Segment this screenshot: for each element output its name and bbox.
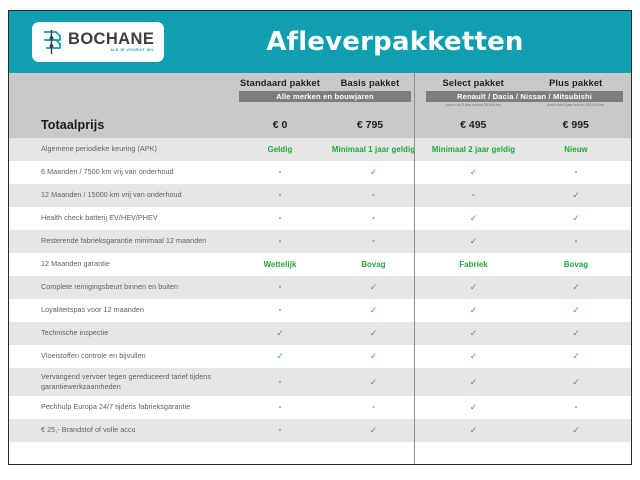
cell-value-tick: ✓ xyxy=(572,425,580,435)
cell-value-tick: ✓ xyxy=(572,377,580,387)
feature-table: Algemene periodieke keuring (APK)GeldigM… xyxy=(9,138,631,442)
cell-pkg-a2: - xyxy=(325,236,422,247)
cell-value-tick: ✓ xyxy=(572,351,580,361)
cell-pkg-a1: ✓ xyxy=(235,351,325,362)
afleverpakketten-card: BOCHANE ALS JE VOORUIT WIL Afleverpakket… xyxy=(8,10,632,465)
cell-value-dash: - xyxy=(279,282,282,291)
row-label: Complete reinigingsbeurt binnen en buite… xyxy=(9,282,235,292)
cell-value-word: Fabriek xyxy=(459,260,487,269)
table-row: Pechhulp Europa 24/7 tijdens fabrieksgar… xyxy=(9,396,631,419)
cell-value-dash: - xyxy=(279,190,282,199)
cell-pkg-b2: - xyxy=(525,236,627,247)
column-title-select: Select pakket xyxy=(422,78,525,88)
cell-pkg-b2: ✓ xyxy=(525,328,627,339)
group-divider xyxy=(414,73,415,464)
row-cells: -✓✓✓ xyxy=(235,282,631,293)
cell-value-tick: ✓ xyxy=(572,190,580,200)
cell-pkg-a2: ✓ xyxy=(325,425,422,436)
cell-pkg-b2: - xyxy=(525,402,627,413)
row-cells: -✓✓- xyxy=(235,167,631,178)
cell-pkg-a2: ✓ xyxy=(325,167,422,178)
table-row: 6 Maanden / 7500 km vrij van onderhoud-✓… xyxy=(9,161,631,184)
table-row: € 25,- Brandstof of volle accu-✓✓✓ xyxy=(9,419,631,442)
cell-pkg-a1: Geldig xyxy=(235,145,325,154)
cell-pkg-a1: - xyxy=(235,190,325,201)
cell-pkg-a1: - xyxy=(235,213,325,224)
cell-value-tick: ✓ xyxy=(572,282,580,292)
row-cells: --✓- xyxy=(235,236,631,247)
cell-pkg-a1: - xyxy=(235,282,325,293)
cell-value-dash: - xyxy=(279,402,282,411)
row-label: Algemene periodieke keuring (APK) xyxy=(9,144,235,154)
row-cells: GeldigMinimaal 1 jaar geldigMinimaal 2 j… xyxy=(235,145,631,154)
cell-value-tick: ✓ xyxy=(470,402,478,412)
cell-pkg-a1: - xyxy=(235,305,325,316)
cell-pkg-a1: - xyxy=(235,402,325,413)
column-sub-plus: Auto's tot 5 jaar oud en 100.000 km xyxy=(525,104,628,107)
cell-pkg-a2: ✓ xyxy=(325,328,422,339)
cell-value-word: Bovag xyxy=(361,260,385,269)
cell-value-word: Geldig xyxy=(268,145,293,154)
cell-pkg-a1: - xyxy=(235,236,325,247)
table-row: Technische inspectie✓✓✓✓ xyxy=(9,322,631,345)
price-standaard: € 0 xyxy=(235,119,325,131)
price-basis: € 795 xyxy=(325,119,415,131)
cell-pkg-a1: - xyxy=(235,425,325,436)
cell-pkg-b1: ✓ xyxy=(422,377,525,388)
page-title: Afleverpakketten xyxy=(9,27,631,57)
cell-pkg-a2: - xyxy=(325,190,422,201)
page-root: BOCHANE ALS JE VOORUIT WIL Afleverpakket… xyxy=(0,0,640,480)
cell-value-dash: - xyxy=(575,236,578,245)
cell-value-tick: ✓ xyxy=(470,213,478,223)
cell-pkg-b1: Fabriek xyxy=(422,260,525,269)
price-plus: € 995 xyxy=(525,119,628,131)
cell-value-tick: ✓ xyxy=(370,282,378,292)
package-group-standaard-basis: Standaard pakket Basis pakket Alle merke… xyxy=(235,73,415,138)
cell-pkg-a2: ✓ xyxy=(325,377,422,388)
cell-value-word: Wettelijk xyxy=(264,260,297,269)
row-label: Vloeistoffen controle en bijvullen xyxy=(9,351,235,361)
table-row: Algemene periodieke keuring (APK)GeldigM… xyxy=(9,138,631,161)
row-label: 6 Maanden / 7500 km vrij van onderhoud xyxy=(9,167,235,177)
cell-value-dash: - xyxy=(279,236,282,245)
table-row: 12 Maanden garantieWettelijkBovagFabriek… xyxy=(9,253,631,276)
package-group-select-plus: Select pakket Plus pakket Renault / Daci… xyxy=(422,73,627,138)
group-badge-alle-merken: Alle merken en bouwjaren xyxy=(239,91,411,102)
cell-value-tick: ✓ xyxy=(470,167,478,177)
cell-value-word: Minimaal 2 jaar geldig xyxy=(432,145,515,154)
cell-value-dash: - xyxy=(372,213,375,222)
cell-value-tick: ✓ xyxy=(276,351,284,361)
cell-value-tick: ✓ xyxy=(572,328,580,338)
row-cells: -✓✓✓ xyxy=(235,377,631,388)
cell-pkg-a2: Minimaal 1 jaar geldig xyxy=(325,145,422,154)
cell-value-dash: - xyxy=(279,425,282,434)
row-cells: --✓✓ xyxy=(235,213,631,224)
cell-pkg-a2: ✓ xyxy=(325,305,422,316)
column-title-standaard: Standaard pakket xyxy=(235,78,325,88)
row-label: Loyaliteitspas voor 12 maanden xyxy=(9,305,235,315)
cell-value-dash: - xyxy=(472,190,475,199)
cell-value-dash: - xyxy=(372,190,375,199)
cell-value-dash: - xyxy=(279,213,282,222)
row-label: 12 Maanden garantie xyxy=(9,259,235,269)
cell-value-dash: - xyxy=(575,402,578,411)
page-header: BOCHANE ALS JE VOORUIT WIL Afleverpakket… xyxy=(9,11,631,73)
table-row: Health check batterij EV/HEV/PHEV--✓✓ xyxy=(9,207,631,230)
cell-pkg-b1: ✓ xyxy=(422,305,525,316)
row-label: Pechhulp Europa 24/7 tijdens fabrieksgar… xyxy=(9,402,235,412)
cell-value-dash: - xyxy=(279,377,282,386)
cell-pkg-a1: - xyxy=(235,377,325,388)
cell-value-word: Minimaal 1 jaar geldig xyxy=(332,145,415,154)
price-header: Totaalprijs Standaard pakket Basis pakke… xyxy=(9,73,631,138)
row-cells: --✓- xyxy=(235,402,631,413)
cell-value-tick: ✓ xyxy=(470,351,478,361)
cell-pkg-b1: Minimaal 2 jaar geldig xyxy=(422,145,525,154)
cell-value-tick: ✓ xyxy=(470,305,478,315)
cell-value-word: Bovag xyxy=(564,260,588,269)
cell-pkg-a2: - xyxy=(325,402,422,413)
table-row: Resterende fabrieksgarantie minimaal 12 … xyxy=(9,230,631,253)
cell-value-tick: ✓ xyxy=(370,305,378,315)
cell-value-tick: ✓ xyxy=(370,425,378,435)
cell-pkg-b1: ✓ xyxy=(422,236,525,247)
cell-value-tick: ✓ xyxy=(470,236,478,246)
cell-value-tick: ✓ xyxy=(370,377,378,387)
row-cells: ---✓ xyxy=(235,190,631,201)
cell-pkg-b2: ✓ xyxy=(525,190,627,201)
cell-pkg-b2: ✓ xyxy=(525,305,627,316)
cell-pkg-a2: ✓ xyxy=(325,282,422,293)
cell-value-dash: - xyxy=(372,236,375,245)
row-cells: WettelijkBovagFabriekBovag xyxy=(235,260,631,269)
table-row: Loyaliteitspas voor 12 maanden-✓✓✓ xyxy=(9,299,631,322)
cell-value-tick: ✓ xyxy=(572,213,580,223)
cell-pkg-b2: ✓ xyxy=(525,425,627,436)
row-label: Vervangend vervoer tegen gereduceerd tar… xyxy=(9,372,235,393)
cell-pkg-a1: Wettelijk xyxy=(235,260,325,269)
cell-value-tick: ✓ xyxy=(572,305,580,315)
row-cells: ✓✓✓✓ xyxy=(235,328,631,339)
cell-pkg-b1: ✓ xyxy=(422,167,525,178)
table-row: Vloeistoffen controle en bijvullen✓✓✓✓ xyxy=(9,345,631,368)
cell-pkg-b1: ✓ xyxy=(422,425,525,436)
column-title-basis: Basis pakket xyxy=(325,78,415,88)
cell-value-tick: ✓ xyxy=(370,351,378,361)
cell-value-tick: ✓ xyxy=(370,167,378,177)
cell-pkg-b1: - xyxy=(422,190,525,201)
row-cells: -✓✓✓ xyxy=(235,425,631,436)
column-sub-select: Auto's tot 3 jaar oud en 30.000 km xyxy=(422,104,525,107)
cell-value-dash: - xyxy=(372,402,375,411)
table-footer-space xyxy=(9,442,631,464)
cell-pkg-b2: ✓ xyxy=(525,282,627,293)
cell-pkg-b1: ✓ xyxy=(422,402,525,413)
row-label: 12 Maanden / 15000 km vrij van onderhoud xyxy=(9,190,235,200)
cell-value-word: Nieuw xyxy=(564,145,587,154)
cell-pkg-b1: ✓ xyxy=(422,351,525,362)
cell-pkg-a2: - xyxy=(325,213,422,224)
cell-pkg-b1: ✓ xyxy=(422,328,525,339)
cell-value-dash: - xyxy=(279,167,282,176)
row-cells: -✓✓✓ xyxy=(235,305,631,316)
cell-value-tick: ✓ xyxy=(470,282,478,292)
cell-pkg-b2: ✓ xyxy=(525,377,627,388)
row-cells: ✓✓✓✓ xyxy=(235,351,631,362)
price-select: € 495 xyxy=(422,119,525,131)
row-label: Resterende fabrieksgarantie minimaal 12 … xyxy=(9,236,235,246)
cell-value-tick: ✓ xyxy=(276,328,284,338)
table-row: 12 Maanden / 15000 km vrij van onderhoud… xyxy=(9,184,631,207)
table-row: Vervangend vervoer tegen gereduceerd tar… xyxy=(9,368,631,396)
cell-pkg-b2: ✓ xyxy=(525,213,627,224)
group-badge-merken: Renault / Dacia / Nissan / Mitsubishi xyxy=(426,91,623,102)
cell-pkg-b2: - xyxy=(525,167,627,178)
row-label: Technische inspectie xyxy=(9,328,235,338)
cell-pkg-a1: - xyxy=(235,167,325,178)
cell-value-dash: - xyxy=(575,167,578,176)
cell-value-tick: ✓ xyxy=(470,425,478,435)
cell-value-tick: ✓ xyxy=(370,328,378,338)
table-row: Complete reinigingsbeurt binnen en buite… xyxy=(9,276,631,299)
row-label: € 25,- Brandstof of volle accu xyxy=(9,425,235,435)
column-title-plus: Plus pakket xyxy=(525,78,628,88)
cell-value-tick: ✓ xyxy=(470,328,478,338)
cell-value-tick: ✓ xyxy=(470,377,478,387)
cell-pkg-a2: Bovag xyxy=(325,260,422,269)
cell-pkg-b1: ✓ xyxy=(422,282,525,293)
cell-pkg-b1: ✓ xyxy=(422,213,525,224)
cell-pkg-a2: ✓ xyxy=(325,351,422,362)
cell-pkg-b2: ✓ xyxy=(525,351,627,362)
row-label: Health check batterij EV/HEV/PHEV xyxy=(9,213,235,223)
cell-pkg-a1: ✓ xyxy=(235,328,325,339)
cell-pkg-b2: Bovag xyxy=(525,260,627,269)
cell-value-dash: - xyxy=(279,305,282,314)
cell-pkg-b2: Nieuw xyxy=(525,145,627,154)
